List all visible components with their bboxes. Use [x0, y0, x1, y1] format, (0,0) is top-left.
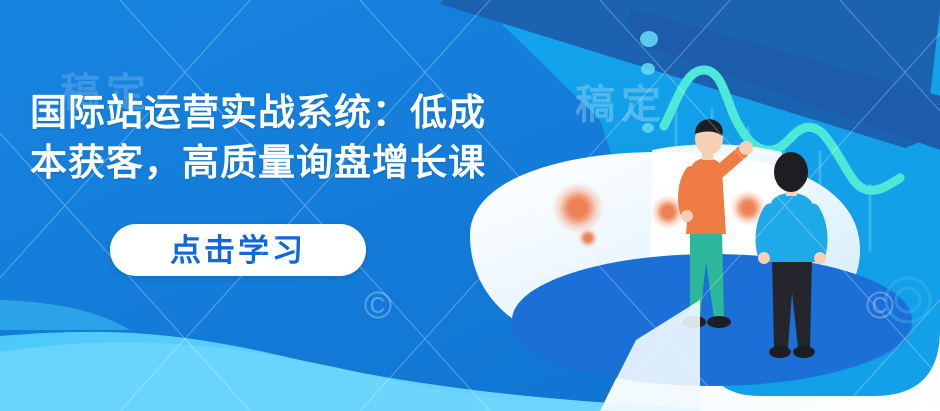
person-right-shirt — [766, 193, 818, 262]
illustration-artwork — [0, 0, 940, 411]
person-left-arm-down — [684, 172, 691, 212]
person-right-arm-left — [762, 210, 770, 254]
person-left-hand-2 — [681, 210, 693, 222]
person-right-hand-left — [758, 252, 770, 264]
promo-banner: 稿定 稿定 国际站运营实战系统：低成 本获客，高质量询盘增长课 点击学习 © ©… — [0, 0, 940, 411]
glow-dot-large-core — [569, 199, 587, 217]
person-right-shoe-1 — [769, 346, 791, 358]
glow-dot-medium-2-core — [742, 202, 754, 214]
glow-dot-medium-core — [662, 206, 674, 218]
cta-button-label: 点击学习 — [170, 235, 306, 266]
click-to-learn-button[interactable]: 点击学习 — [110, 224, 366, 276]
person-right-arm-right — [813, 210, 821, 254]
person-left-hand — [739, 141, 753, 155]
person-right-head-hair — [774, 152, 808, 192]
person-right-shoe-2 — [793, 346, 815, 358]
person-right-hand-right — [814, 252, 826, 264]
person-left-shoe-2 — [707, 316, 731, 328]
glow-dot-small-core — [585, 235, 592, 242]
